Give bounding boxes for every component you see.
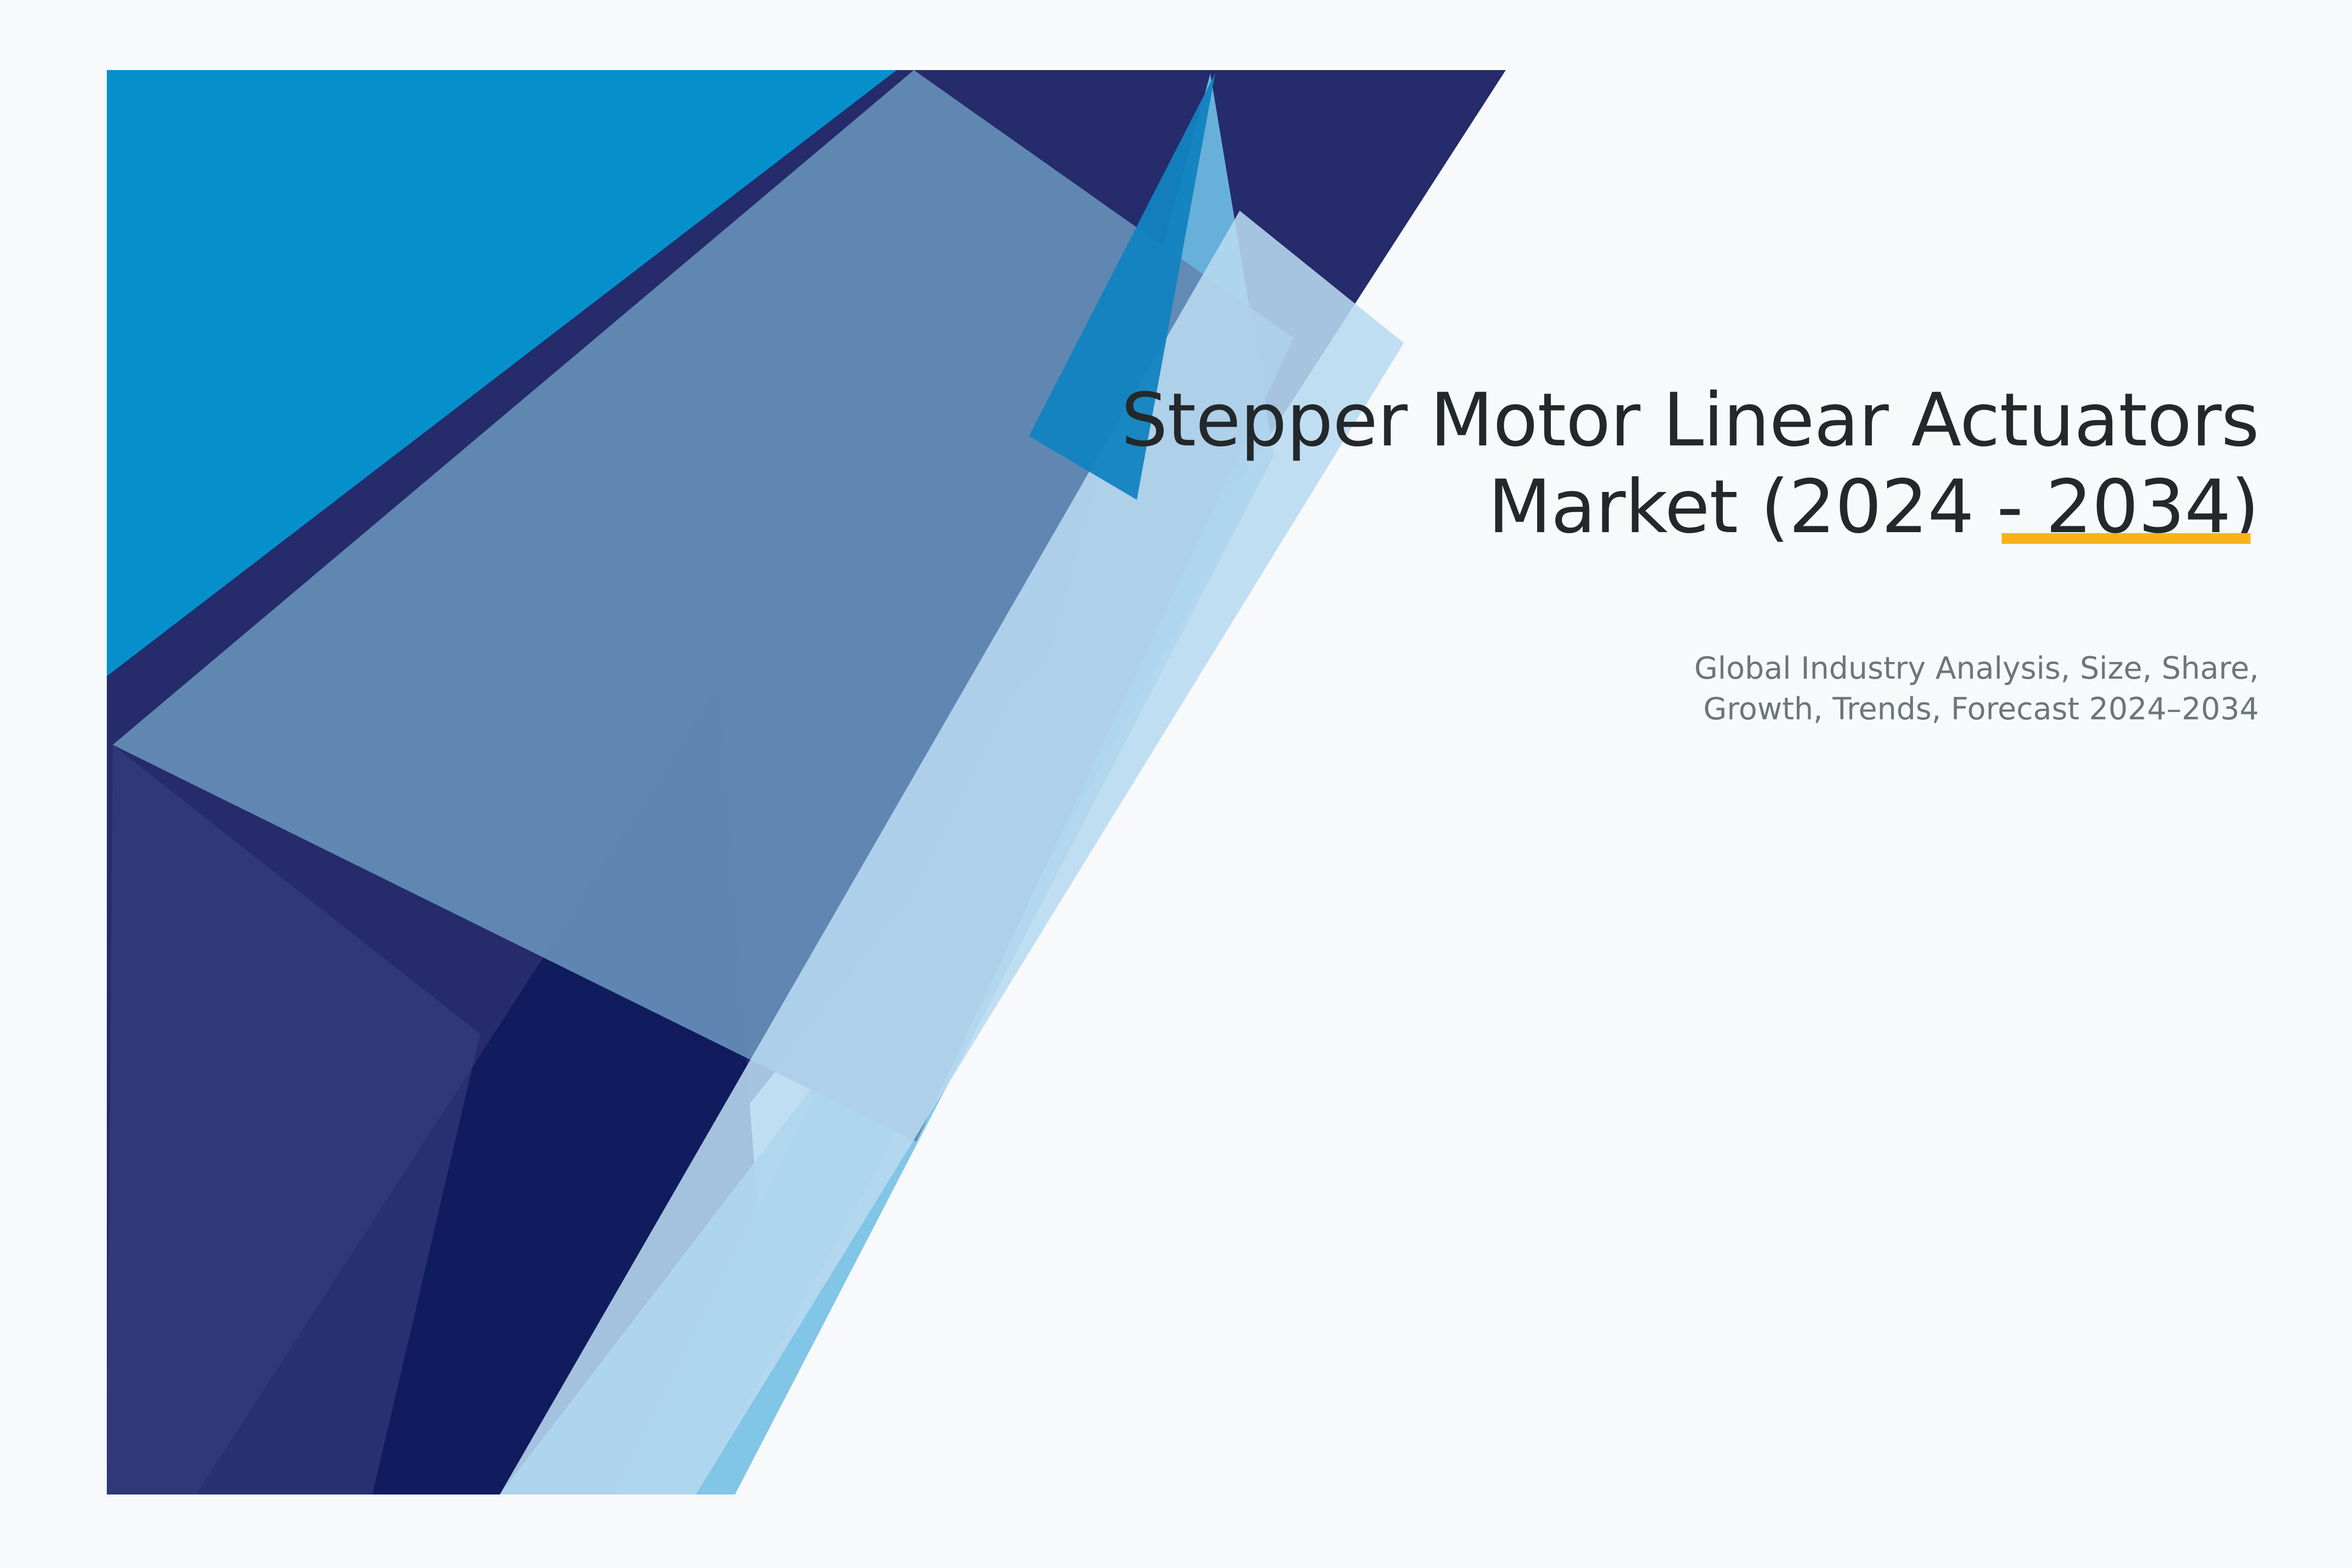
cover-subtitle-block: Global Industry Analysis, Size, Share, G…: [1274, 648, 2259, 729]
abstract-geometric-artwork: [0, 0, 2352, 1568]
title-accent-underline: [2002, 533, 2251, 544]
page-title: Stepper Motor Linear Actuators Market (2…: [1004, 377, 2259, 551]
page-subtitle: Global Industry Analysis, Size, Share, G…: [1274, 648, 2259, 729]
report-cover-page: Stepper Motor Linear Actuators Market (2…: [0, 0, 2352, 1568]
cover-title-block: Stepper Motor Linear Actuators Market (2…: [1004, 377, 2259, 551]
